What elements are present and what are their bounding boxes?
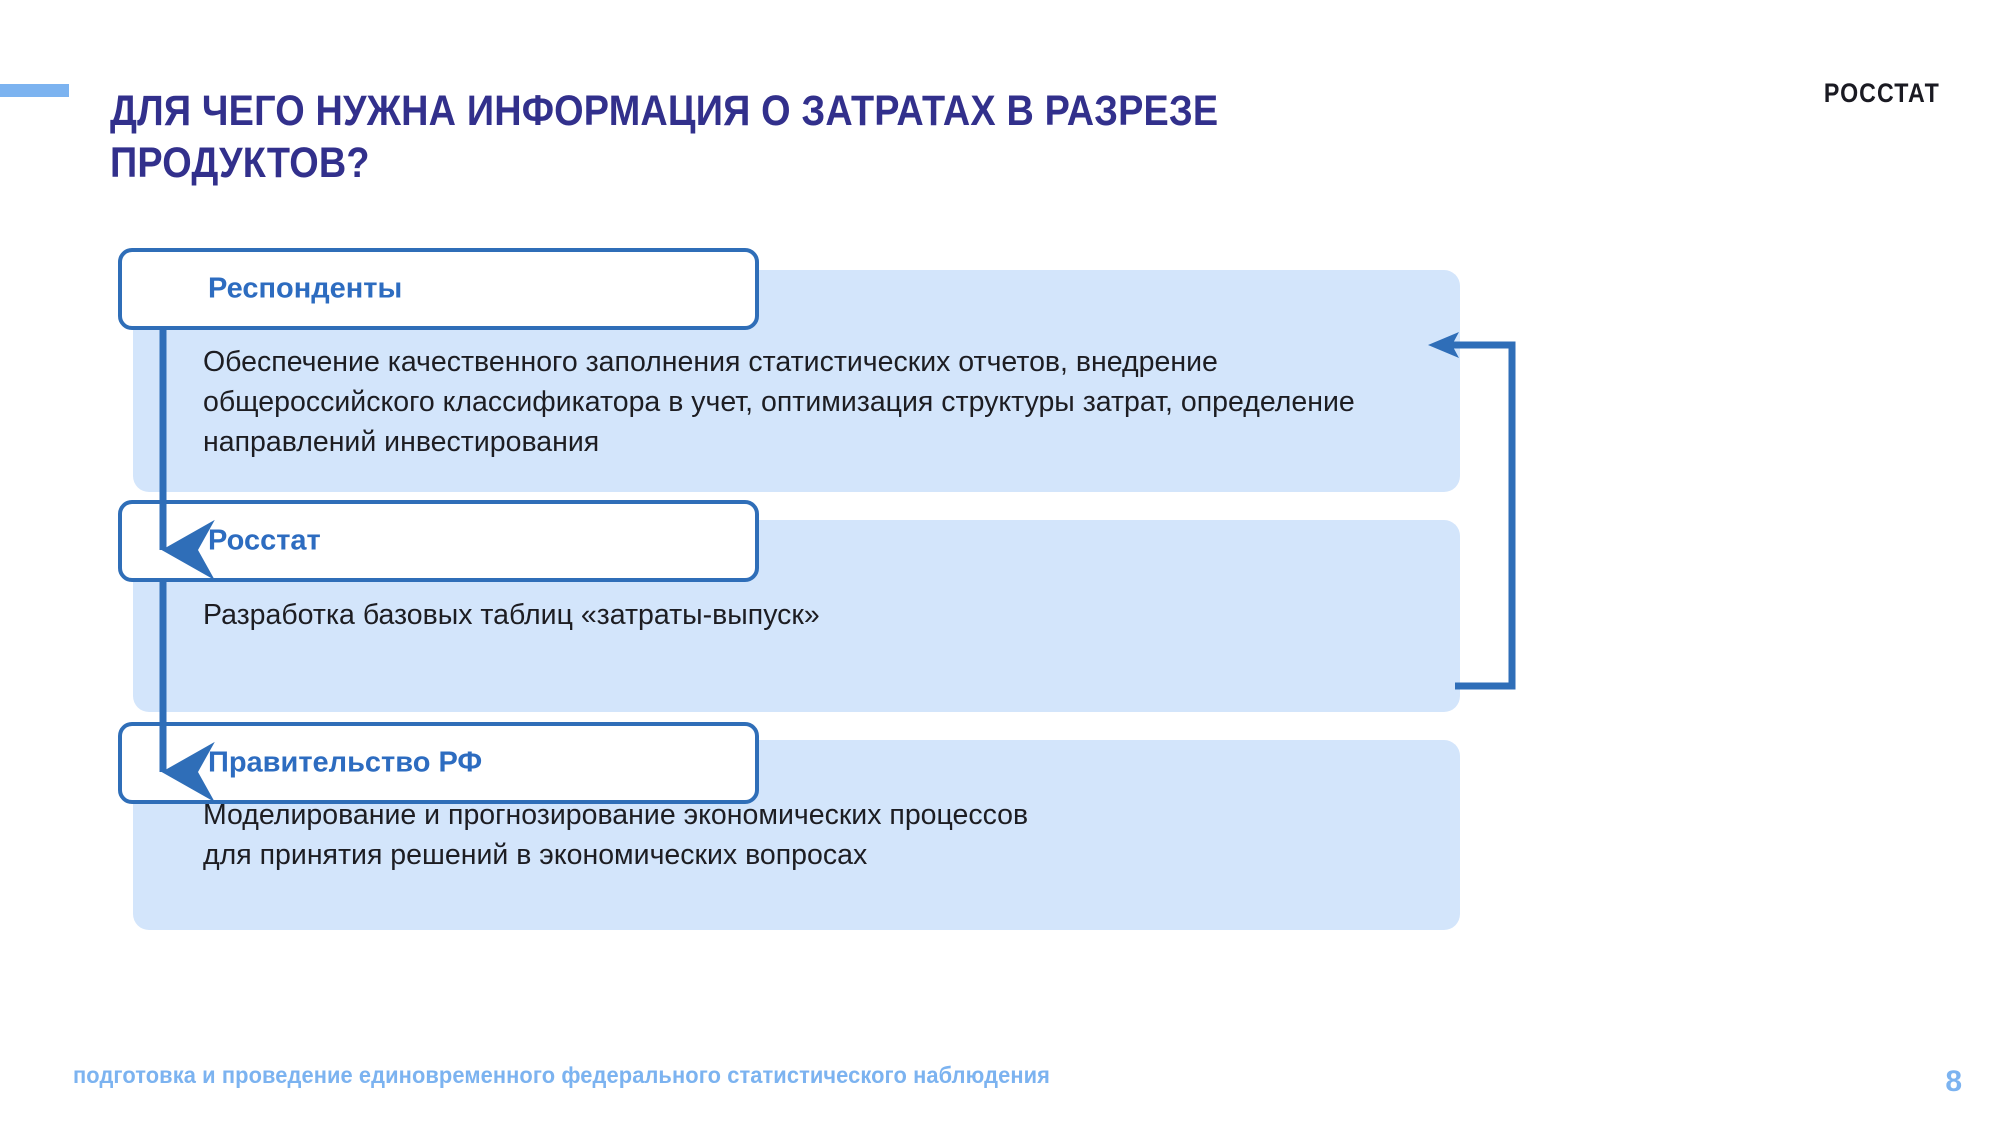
slide-canvas: ДЛЯ ЧЕГО НУЖНА ИНФОРМАЦИЯ О ЗАТРАТАХ В Р… <box>0 0 2000 1125</box>
role-box-respondents-label: Респонденты <box>208 273 402 306</box>
flow-diagram: Обеспечение качественного заполнения ста… <box>0 0 2000 1125</box>
role-box-government-label: Правительство РФ <box>208 747 482 780</box>
role-box-rosstat-label: Росстат <box>208 525 321 558</box>
flow-panel-government-description: Моделирование и прогнозирование экономич… <box>203 795 1420 875</box>
flow-panel-respondents-description: Обеспечение качественного заполнения ста… <box>203 342 1420 462</box>
role-box-rosstat[interactable]: Росстат <box>118 500 759 582</box>
role-box-government[interactable]: Правительство РФ <box>118 722 759 804</box>
flow-panel-rosstat-description: Разработка базовых таблиц «затраты-выпус… <box>203 595 1420 635</box>
role-box-respondents[interactable]: Респонденты <box>118 248 759 330</box>
page-number: 8 <box>1945 1065 1962 1099</box>
footer-note: подготовка и проведение единовременного … <box>73 1062 1050 1089</box>
